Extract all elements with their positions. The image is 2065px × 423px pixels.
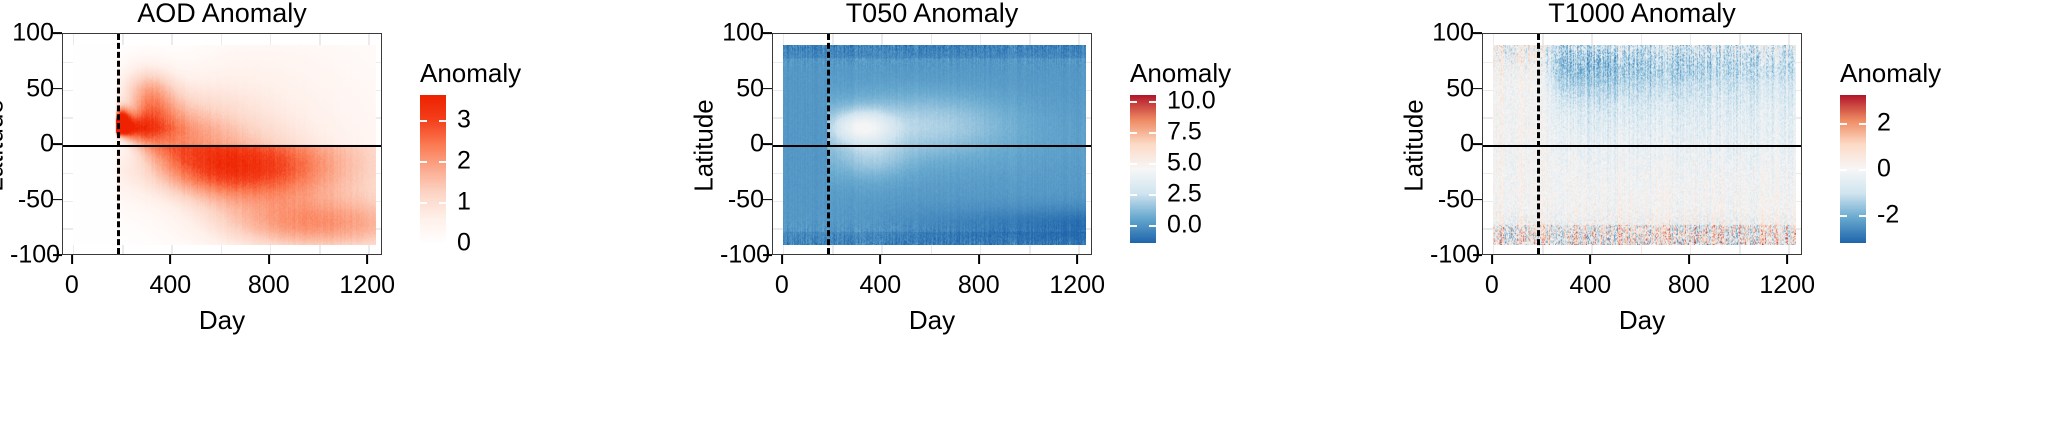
legend-tick-label: 7.5 <box>1167 118 1202 147</box>
x-axis-tick-label: 400 <box>1569 271 1611 300</box>
x-axis-tick-mark <box>1786 255 1788 264</box>
plot-area-t050 <box>772 33 1092 255</box>
legend-tick-mark <box>1130 163 1137 165</box>
legend-tick-mark <box>420 120 427 122</box>
legend-tick-mark <box>1149 163 1156 165</box>
legend-tick-mark <box>1130 101 1137 103</box>
x-axis-tick-label: 0 <box>1485 271 1499 300</box>
legend-tick-label: 2.5 <box>1167 179 1202 208</box>
y-axis-tick-mark <box>53 254 62 256</box>
y-axis-tick-mark <box>53 32 62 34</box>
equator-line <box>1483 145 1801 147</box>
legend-tick-mark <box>1149 101 1156 103</box>
legend-colorbar-canvas <box>420 95 446 243</box>
legend-tick-mark <box>420 161 427 163</box>
y-axis-tick-mark <box>1473 254 1482 256</box>
equator-line <box>63 145 381 147</box>
legend-tick-label: 2 <box>1877 108 1891 137</box>
legend-tick-mark <box>1859 215 1866 217</box>
x-axis-tick-mark <box>781 255 783 264</box>
panel-title-aod: AOD Anomaly <box>62 0 382 29</box>
legend-tick-mark <box>1149 194 1156 196</box>
y-axis-tick-mark <box>763 143 772 145</box>
legend-tick-label: 10.0 <box>1167 87 1216 116</box>
eruption-day-line <box>827 34 830 254</box>
y-axis-tick-label: 100 <box>10 19 54 48</box>
x-axis-tick-label: 400 <box>149 271 191 300</box>
y-axis-tick-label: 50 <box>720 74 764 103</box>
y-axis-tick-mark <box>763 88 772 90</box>
legend-tick-label: 5.0 <box>1167 148 1202 177</box>
x-axis-title: Day <box>1482 305 1802 336</box>
x-axis-tick-mark <box>169 255 171 264</box>
legend-tick-label: 0 <box>1877 155 1891 184</box>
x-axis-tick-label: 1200 <box>1759 271 1815 300</box>
legend-title: Anomaly <box>1130 58 1231 89</box>
legend-tick-mark <box>1859 169 1866 171</box>
x-axis-tick-label: 800 <box>958 271 1000 300</box>
y-axis-tick-label: -100 <box>10 241 54 270</box>
y-axis-tick-label: -100 <box>720 241 764 270</box>
legend-tick-label: -2 <box>1877 201 1899 230</box>
x-axis-tick-mark <box>879 255 881 264</box>
legend-tick-label: 2 <box>457 146 471 175</box>
x-axis-tick-mark <box>1491 255 1493 264</box>
legend-colorbar <box>420 95 446 243</box>
legend-tick-mark <box>420 243 427 245</box>
legend-tick-mark <box>439 243 446 245</box>
legend-tick-mark <box>1840 169 1847 171</box>
y-axis-tick-label: 100 <box>720 19 764 48</box>
panel-t050: T050 Anomaly100500-50-10004008001200Lati… <box>710 0 1420 423</box>
y-axis-tick-label: 0 <box>720 130 764 159</box>
panel-title-t1000: T1000 Anomaly <box>1482 0 1802 29</box>
eruption-day-line <box>117 34 120 254</box>
y-axis-tick-label: -50 <box>10 185 54 214</box>
panel-aod: AOD Anomaly100500-50-10004008001200Latit… <box>0 0 710 423</box>
x-axis-tick-mark <box>366 255 368 264</box>
y-axis-title: Latitude <box>0 66 10 226</box>
legend-tick-label: 0 <box>457 229 471 258</box>
legend-tick-mark <box>1149 225 1156 227</box>
x-axis-tick-mark <box>978 255 980 264</box>
y-axis-tick-mark <box>53 88 62 90</box>
y-axis-tick-label: 50 <box>10 74 54 103</box>
legend-tick-mark <box>1840 123 1847 125</box>
y-axis-tick-label: 100 <box>1430 19 1474 48</box>
y-axis-tick-label: 0 <box>10 130 54 159</box>
y-axis-tick-mark <box>53 199 62 201</box>
legend-title: Anomaly <box>1840 58 1941 89</box>
plot-area-t1000 <box>1482 33 1802 255</box>
legend-tick-mark <box>439 120 446 122</box>
legend-tick-mark <box>1130 132 1137 134</box>
x-axis-tick-label: 1200 <box>1049 271 1105 300</box>
x-axis-tick-mark <box>268 255 270 264</box>
x-axis-tick-label: 0 <box>65 271 79 300</box>
x-axis-tick-label: 0 <box>775 271 789 300</box>
y-axis-title: Latitude <box>1399 66 1430 226</box>
x-axis-tick-mark <box>1688 255 1690 264</box>
y-axis-tick-label: 50 <box>1430 74 1474 103</box>
legend-tick-label: 3 <box>457 105 471 134</box>
y-axis-tick-mark <box>1473 143 1482 145</box>
eruption-day-line <box>1537 34 1540 254</box>
legend-tick-mark <box>1130 225 1137 227</box>
legend-tick-label: 0.0 <box>1167 210 1202 239</box>
x-axis-tick-label: 800 <box>248 271 290 300</box>
x-axis-tick-mark <box>1589 255 1591 264</box>
panel-title-t050: T050 Anomaly <box>772 0 1092 29</box>
x-axis-tick-label: 800 <box>1668 271 1710 300</box>
plot-area-aod <box>62 33 382 255</box>
legend-tick-mark <box>439 161 446 163</box>
legend-tick-mark <box>420 202 427 204</box>
panel-t1000: T1000 Anomaly100500-50-10004008001200Lat… <box>1420 0 2065 423</box>
y-axis-tick-label: 0 <box>1430 130 1474 159</box>
legend-tick-mark <box>1149 132 1156 134</box>
x-axis-tick-label: 400 <box>859 271 901 300</box>
y-axis-tick-mark <box>1473 32 1482 34</box>
y-axis-tick-mark <box>763 199 772 201</box>
legend-tick-label: 1 <box>457 187 471 216</box>
y-axis-title: Latitude <box>689 66 720 226</box>
legend-tick-mark <box>439 202 446 204</box>
legend-colorbar <box>1130 95 1156 243</box>
x-axis-title: Day <box>62 305 382 336</box>
y-axis-tick-label: -50 <box>720 185 764 214</box>
y-axis-tick-mark <box>53 143 62 145</box>
x-axis-tick-label: 1200 <box>339 271 395 300</box>
y-axis-tick-mark <box>763 254 772 256</box>
y-axis-tick-label: -100 <box>1430 241 1474 270</box>
y-axis-tick-mark <box>1473 88 1482 90</box>
x-axis-title: Day <box>772 305 1092 336</box>
legend-colorbar-canvas <box>1130 95 1156 243</box>
equator-line <box>773 145 1091 147</box>
x-axis-tick-mark <box>71 255 73 264</box>
figure-root: AOD Anomaly100500-50-10004008001200Latit… <box>0 0 2065 423</box>
legend-title: Anomaly <box>420 58 521 89</box>
legend-tick-mark <box>1130 194 1137 196</box>
y-axis-tick-mark <box>763 32 772 34</box>
legend-tick-mark <box>1859 123 1866 125</box>
y-axis-tick-mark <box>1473 199 1482 201</box>
x-axis-tick-mark <box>1076 255 1078 264</box>
legend-tick-mark <box>1840 215 1847 217</box>
y-axis-tick-label: -50 <box>1430 185 1474 214</box>
